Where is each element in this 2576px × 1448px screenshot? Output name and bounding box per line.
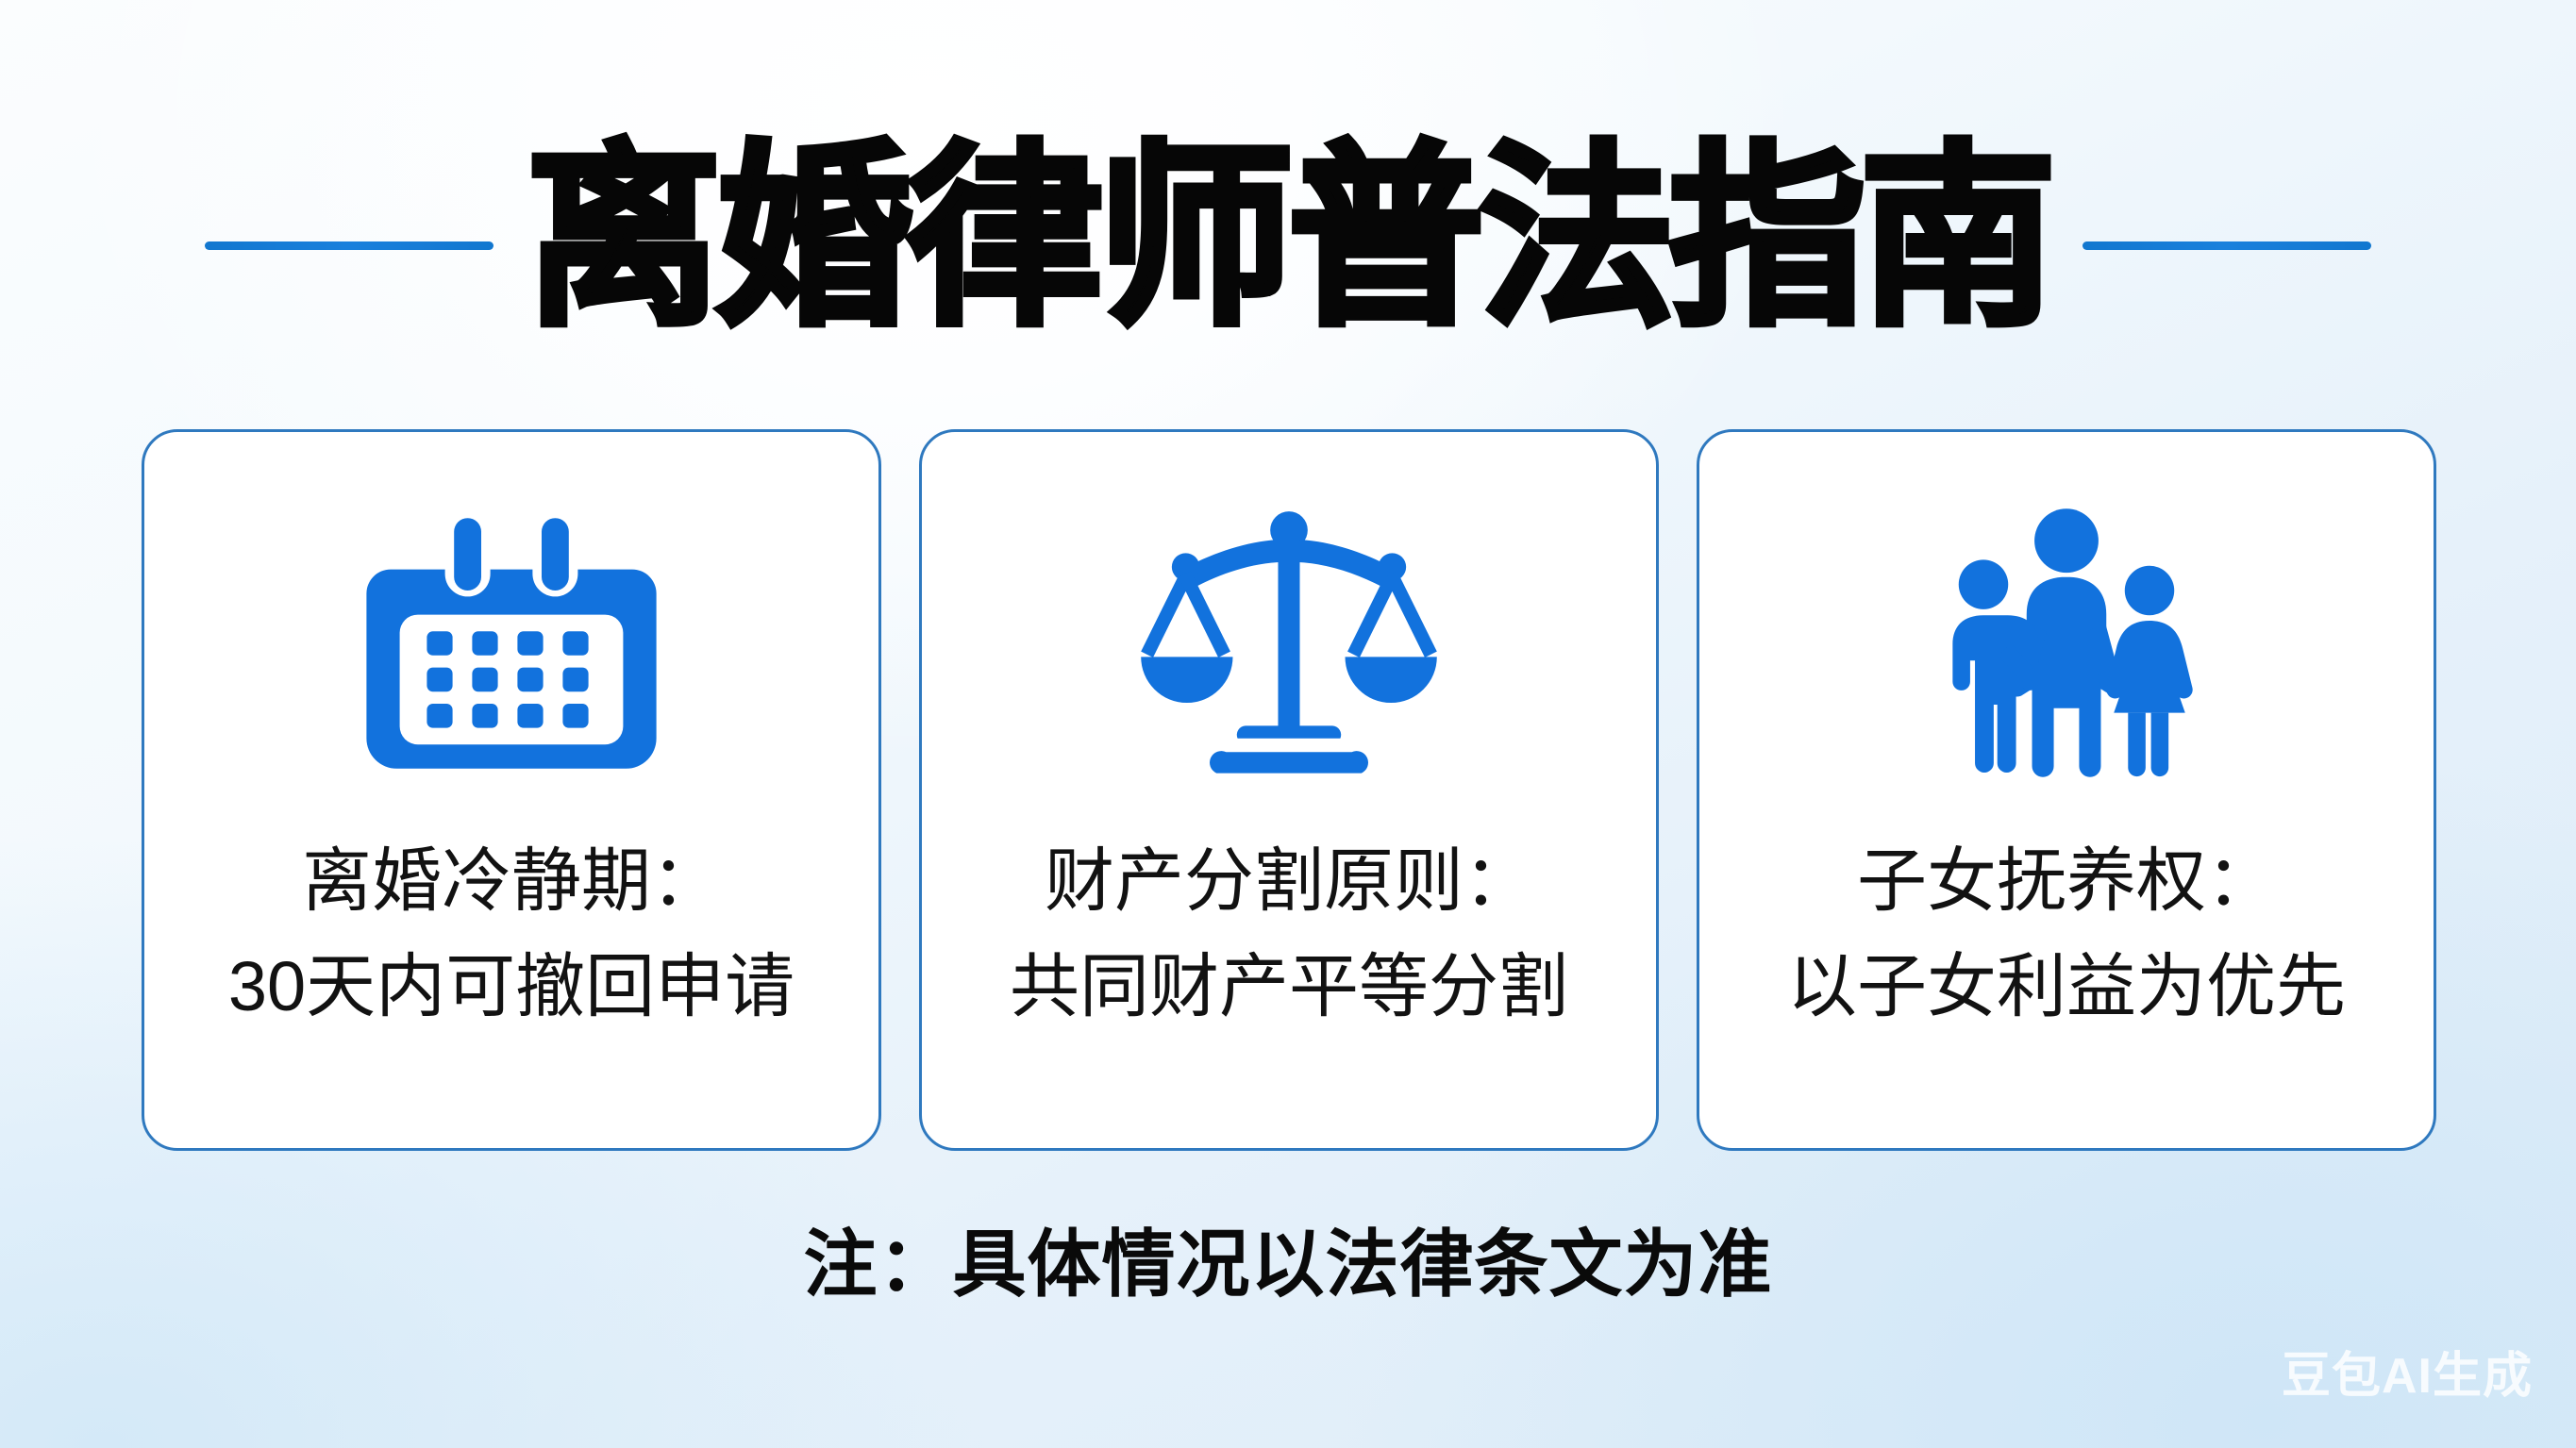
card-caption: 子女抚养权： 以子女利益为优先	[1787, 828, 2346, 1040]
watermark-label: 豆包AI生成	[2282, 1336, 2533, 1406]
title-row: 离婚律师普法指南	[0, 121, 2576, 357]
card-caption-line2: 以子女利益为优先	[1787, 934, 2346, 1040]
card-caption-line2: 共同财产平等分割	[1010, 934, 1568, 1040]
footnote-disclaimer: 注：具体情况以法律条文为准	[0, 1206, 2576, 1311]
card-property-division[interactable]: 财产分割原则： 共同财产平等分割	[919, 429, 1659, 1151]
card-caption-line1: 财产分割原则：	[1010, 828, 1568, 934]
title-rule-right	[2083, 241, 2371, 250]
card-caption-line1: 子女抚养权：	[1787, 828, 2346, 934]
card-child-custody[interactable]: 子女抚养权： 以子女利益为优先	[1697, 429, 2436, 1151]
poster-canvas: 离婚律师普法指南	[0, 0, 2576, 1448]
page-title: 离婚律师普法指南	[526, 141, 2050, 337]
card-group: 离婚冷静期： 30天内可撤回申请	[142, 429, 2436, 1151]
balance-scales-icon	[1129, 491, 1449, 811]
calendar-icon	[351, 491, 672, 811]
card-caption: 离婚冷静期： 30天内可撤回申请	[228, 828, 795, 1040]
card-cooling-off-period[interactable]: 离婚冷静期： 30天内可撤回申请	[142, 429, 881, 1151]
card-caption: 财产分割原则： 共同财产平等分割	[1010, 828, 1568, 1040]
family-icon	[1906, 491, 2227, 811]
card-caption-line1: 离婚冷静期：	[228, 828, 795, 934]
title-rule-left	[205, 241, 493, 250]
card-caption-line2: 30天内可撤回申请	[228, 934, 795, 1040]
